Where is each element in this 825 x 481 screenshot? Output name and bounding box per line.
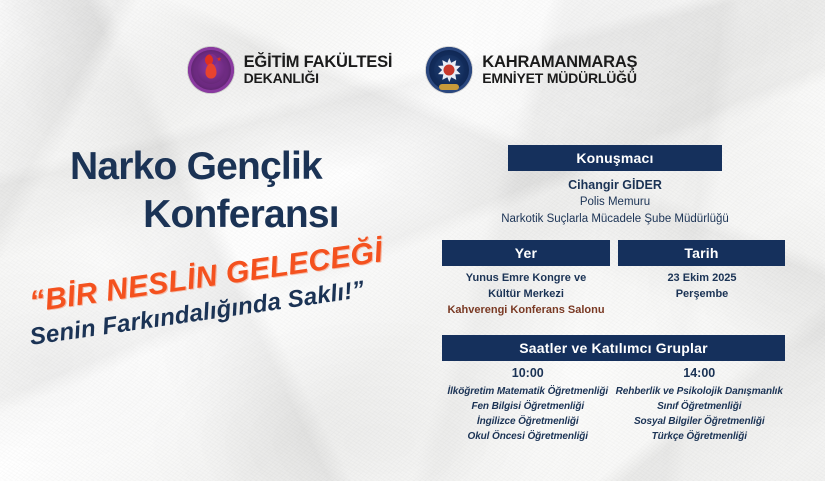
education-faculty-label: EĞİTİM FAKÜLTESİ DEKANLIĞI <box>244 53 393 87</box>
date-line-2: Perşembe <box>612 287 792 303</box>
slogan: “BİR NESLİN GELECEĞİ Senin Farkındalığın… <box>22 268 422 358</box>
flame-shape <box>205 63 216 78</box>
page-title-line-1: Narko Gençlik <box>70 145 322 188</box>
schedule-session-morning: 10:00 İlköğretim Matematik Öğretmenliği … <box>442 366 614 444</box>
ribbon-shape <box>439 84 459 90</box>
session-group: Sınıf Öğretmenliği <box>614 399 786 414</box>
police-star-shape <box>437 58 461 82</box>
star-shape <box>217 57 222 62</box>
schedule-columns: 10:00 İlköğretim Matematik Öğretmenliği … <box>442 366 785 444</box>
date-details: 23 Ekim 2025 Perşembe <box>612 271 792 303</box>
logo-education-faculty: EĞİTİM FAKÜLTESİ DEKANLIĞI <box>188 47 393 93</box>
date-heading-bar: Tarih <box>618 240 785 266</box>
speaker-heading-bar: Konuşmacı <box>508 145 722 171</box>
schedule-session-afternoon: 14:00 Rehberlik ve Psikolojik Danışmanlı… <box>614 366 786 444</box>
speaker-unit: Narkotik Suçlarla Mücadele Şube Müdürlüğ… <box>440 211 790 228</box>
education-faculty-seal-icon <box>188 47 234 93</box>
logo-line-1: KAHRAMANMARAŞ <box>482 53 637 71</box>
session-time: 14:00 <box>614 366 786 380</box>
poster-header: EĞİTİM FAKÜLTESİ DEKANLIĞI KAHRAMANMARAŞ… <box>0 47 825 93</box>
speaker-details: Cihangir GİDER Polis Memuru Narkotik Suç… <box>440 176 790 227</box>
session-group: Okul Öncesi Öğretmenliği <box>442 429 614 444</box>
police-department-seal-icon <box>426 47 472 93</box>
session-group: Rehberlik ve Psikolojik Danışmanlık <box>614 384 786 399</box>
logo-line-2: DEKANLIĞI <box>244 71 393 87</box>
session-group: Türkçe Öğretmenliği <box>614 429 786 444</box>
page-title: Narko Gençlik Konferansı <box>70 143 400 238</box>
police-department-label: KAHRAMANMARAŞ EMNİYET MÜDÜRLÜĞÜ <box>482 53 637 87</box>
conference-poster: EĞİTİM FAKÜLTESİ DEKANLIĞI KAHRAMANMARAŞ… <box>0 0 825 481</box>
logo-line-2: EMNİYET MÜDÜRLÜĞÜ <box>482 71 637 87</box>
venue-line-2: Kültür Merkezi <box>436 287 616 303</box>
page-title-line-2: Konferansı <box>70 191 400 239</box>
venue-line-1: Yunus Emre Kongre ve <box>436 271 616 287</box>
venue-hall: Kahverengi Konferans Salonu <box>436 303 616 319</box>
schedule-heading-bar: Saatler ve Katılımcı Gruplar <box>442 335 785 361</box>
session-group: İlköğretim Matematik Öğretmenliği <box>442 384 614 399</box>
date-line-1: 23 Ekim 2025 <box>612 271 792 287</box>
venue-heading-bar: Yer <box>442 240 610 266</box>
speaker-role: Polis Memuru <box>440 194 790 211</box>
speaker-name: Cihangir GİDER <box>440 176 790 194</box>
session-group: Fen Bilgisi Öğretmenliği <box>442 399 614 414</box>
session-group: Sosyal Bilgiler Öğretmenliği <box>614 414 786 429</box>
logo-police-department: KAHRAMANMARAŞ EMNİYET MÜDÜRLÜĞÜ <box>426 47 637 93</box>
venue-details: Yunus Emre Kongre ve Kültür Merkezi Kahv… <box>436 271 616 319</box>
session-group: İngilizce Öğretmenliği <box>442 414 614 429</box>
session-time: 10:00 <box>442 366 614 380</box>
logo-line-1: EĞİTİM FAKÜLTESİ <box>244 53 393 71</box>
